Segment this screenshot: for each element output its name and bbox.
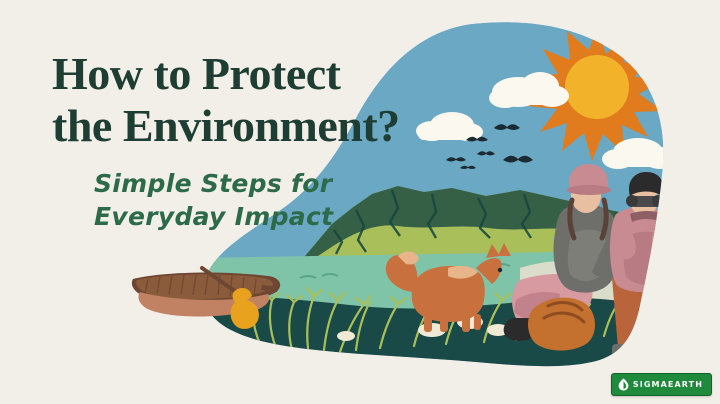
subtitle-line-2: Everyday Impact [94,200,472,234]
logo-wordmark: SIGMAEARTH [633,381,703,389]
backpack [528,298,595,351]
article-hero-banner: How to Protect the Environment? Simple S… [0,0,720,404]
sun-core [565,55,629,119]
canoe [132,268,280,329]
leaf-icon [618,378,629,391]
headline-line-2: the Environment? [52,100,472,152]
subtitle-line-1: Simple Steps for [94,167,472,201]
page-title: How to Protect the Environment? [52,48,472,153]
headline-line-1: How to Protect [52,48,472,100]
headline-block: How to Protect the Environment? Simple S… [52,48,472,234]
page-subtitle: Simple Steps for Everyday Impact [94,167,472,234]
sigmaearth-logo[interactable]: SIGMAEARTH [611,373,712,396]
